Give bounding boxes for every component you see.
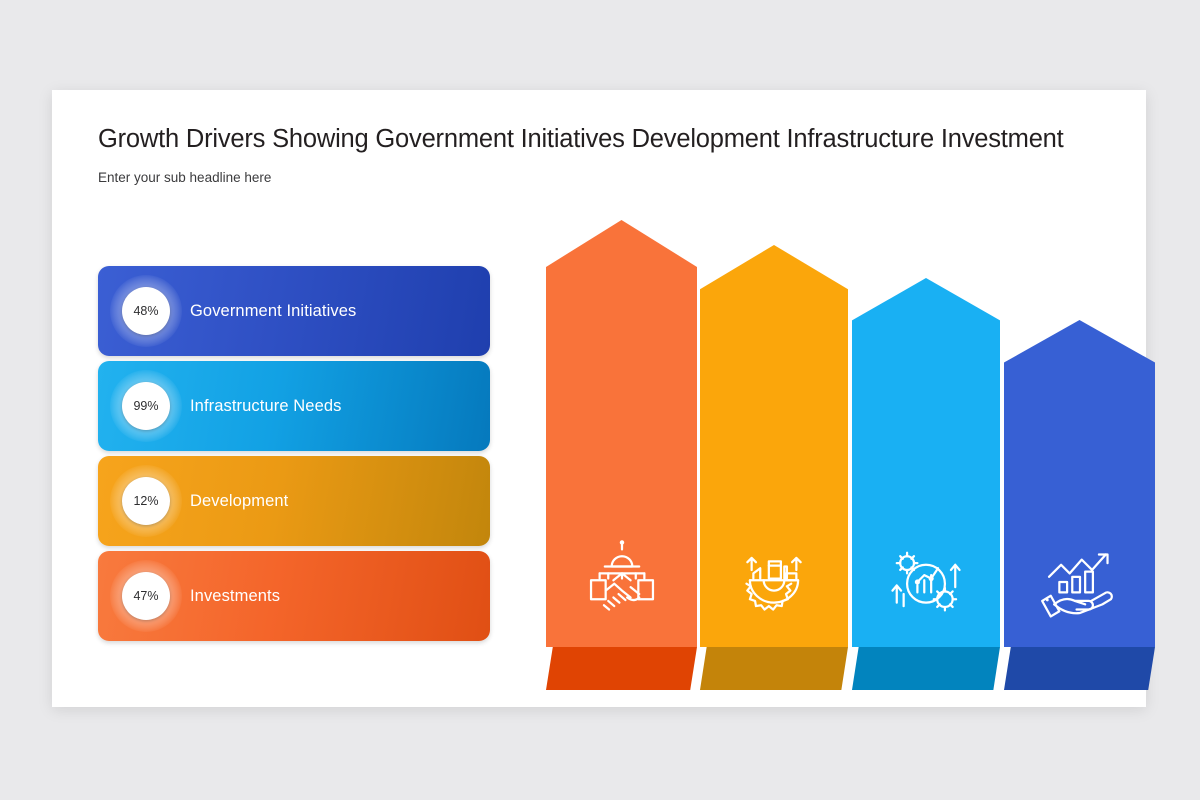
percent-badge: 47% [122, 572, 170, 620]
chart-column-investments[interactable] [1004, 320, 1155, 690]
column-body [852, 278, 1000, 647]
page-title: Growth Drivers Showing Government Initia… [98, 125, 1098, 154]
legend-item-development[interactable]: 12% Development [98, 456, 490, 546]
chart-column-government-initiatives[interactable] [546, 220, 697, 690]
arrow-column-chart [492, 200, 1112, 690]
legend-item-investments[interactable]: 47% Investments [98, 551, 490, 641]
slide-heading-block: Growth Drivers Showing Government Initia… [98, 125, 1098, 185]
legend-item-government-initiatives[interactable]: 48% Government Initiatives [98, 266, 490, 356]
page-subtitle: Enter your sub headline here [98, 170, 1098, 185]
column-body [1004, 320, 1155, 647]
investment-hand-chart-icon [1037, 539, 1123, 625]
industry-gear-growth-icon [731, 539, 817, 625]
government-handshake-icon [579, 539, 665, 625]
percent-badge: 12% [122, 477, 170, 525]
development-analytics-icon [883, 539, 969, 625]
legend-item-label: Investments [190, 587, 280, 606]
legend-item-infrastructure-needs[interactable]: 99% Infrastructure Needs [98, 361, 490, 451]
slide-card: Growth Drivers Showing Government Initia… [52, 90, 1146, 707]
legend-list: 48% Government Initiatives 99% Infrastru… [98, 266, 490, 646]
column-base [700, 647, 848, 690]
column-body [546, 220, 697, 647]
column-base [852, 647, 1000, 690]
column-base [546, 647, 697, 690]
legend-item-label: Infrastructure Needs [190, 397, 341, 416]
column-base [1004, 647, 1155, 690]
percent-badge: 48% [122, 287, 170, 335]
chart-column-infrastructure-needs[interactable] [700, 245, 848, 690]
legend-item-label: Government Initiatives [190, 302, 356, 321]
percent-badge: 99% [122, 382, 170, 430]
chart-column-development[interactable] [852, 278, 1000, 690]
legend-item-label: Development [190, 492, 288, 511]
column-body [700, 245, 848, 647]
